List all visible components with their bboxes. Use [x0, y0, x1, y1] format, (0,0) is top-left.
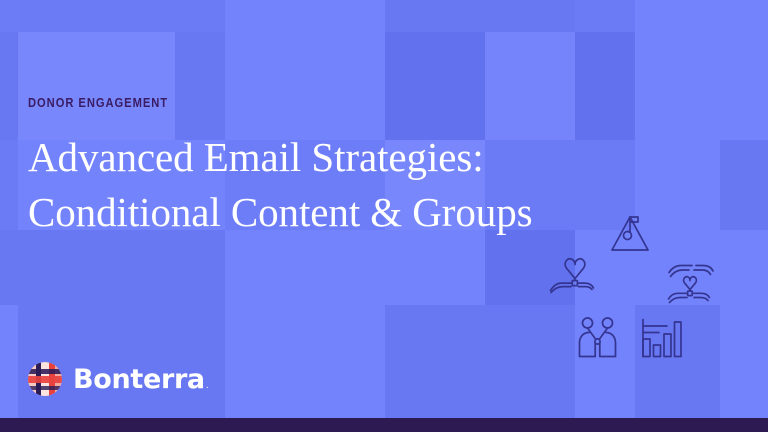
- background-tile: [575, 0, 635, 32]
- background-tile: [720, 140, 768, 230]
- background-tile: [720, 305, 768, 418]
- background-tile: [385, 0, 485, 32]
- bar-chart-icon: [637, 314, 687, 362]
- title-block: DONOR ENGAGEMENT Advanced Email Strategi…: [28, 96, 628, 239]
- background-tile: [0, 230, 18, 305]
- background-tile: [385, 305, 485, 418]
- bonterra-logo: Bonterra.: [28, 362, 208, 396]
- eyebrow-label: DONOR ENGAGEMENT: [28, 96, 544, 110]
- background-tile: [175, 230, 225, 305]
- background-tile: [0, 305, 18, 418]
- hands-cradling-heart-icon: [663, 258, 717, 308]
- background-tile: [720, 32, 768, 140]
- trademark-mark: .: [206, 381, 209, 391]
- heart-in-hand-icon: [545, 254, 601, 304]
- background-tile: [18, 0, 175, 32]
- two-people-icon: [573, 314, 623, 362]
- background-tile: [635, 0, 720, 32]
- mountain-summit-flag-icon: [605, 210, 655, 258]
- background-tile: [0, 32, 18, 140]
- bonterra-mark-icon: [28, 362, 62, 396]
- background-tile: [18, 230, 175, 305]
- bonterra-wordmark: Bonterra.: [73, 366, 208, 393]
- decorative-icon-cluster: [545, 208, 725, 368]
- background-tile: [385, 230, 485, 305]
- background-tile: [175, 0, 225, 32]
- background-tile: [0, 140, 18, 230]
- background-tile: [0, 0, 18, 32]
- wordmark-text: Bonterra: [73, 364, 205, 395]
- background-tile: [225, 230, 385, 305]
- bottom-accent-bar: [0, 418, 768, 432]
- background-tile: [225, 0, 385, 32]
- background-tile: [720, 230, 768, 305]
- background-tile: [225, 305, 385, 418]
- background-tile: [720, 0, 768, 32]
- background-tile: [485, 0, 575, 32]
- background-tile: [635, 32, 720, 140]
- page-title: Advanced Email Strategies: Conditional C…: [28, 130, 608, 239]
- presentation-slide: DONOR ENGAGEMENT Advanced Email Strategi…: [0, 0, 768, 432]
